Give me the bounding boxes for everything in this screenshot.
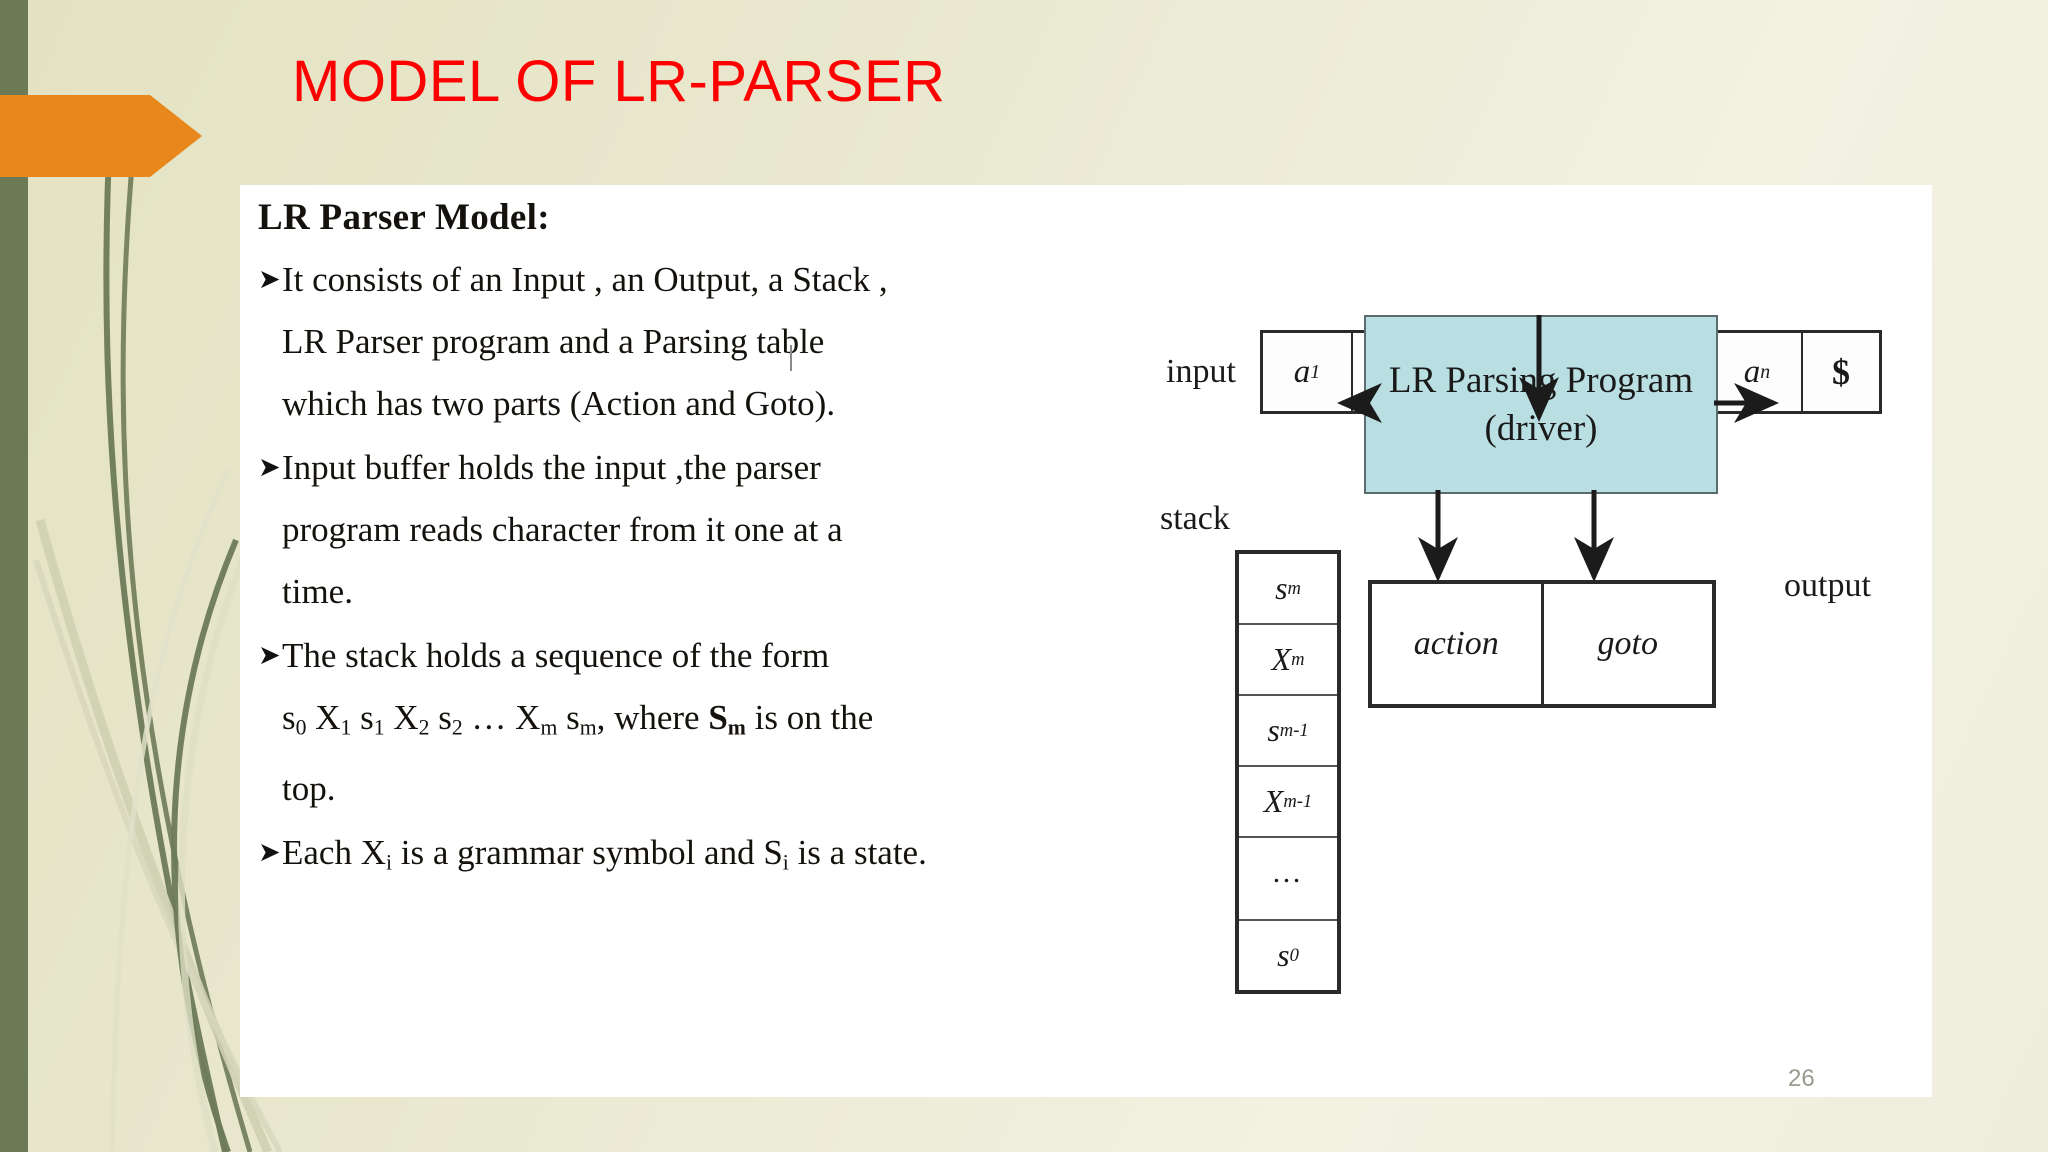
text-cursor-artifact: [790, 345, 792, 371]
input-cell-0: a1: [1263, 333, 1353, 411]
page-title: MODEL OF LR-PARSER: [292, 48, 946, 115]
input-label: input: [1166, 353, 1236, 391]
bullet-input-buffer: ➤ Input buffer holds the input ,the pars…: [258, 437, 1088, 623]
stack-cell-0: sm: [1239, 554, 1337, 625]
bullet-stack-sequence: ➤ The stack holds a sequence of the form…: [258, 625, 1088, 821]
bullet-grammar-symbol: ➤ Each Xi is a grammar symbol and Si is …: [258, 822, 1088, 894]
stack-cell-3: Xm-1: [1239, 767, 1337, 838]
bullet-consists-text: It consists of an Input , an Output, a S…: [282, 249, 1088, 435]
bullet-marker-icon: ➤: [258, 249, 282, 311]
input-cell-6: $: [1803, 333, 1879, 411]
text-column: LR Parser Model: ➤ It consists of an Inp…: [258, 198, 1088, 1088]
bullet-marker-icon: ➤: [258, 437, 282, 499]
input-cell-5: an: [1713, 333, 1803, 411]
stack-label: stack: [1160, 500, 1230, 538]
page-number: 26: [1788, 1065, 1815, 1093]
parser-box-line2: (driver): [1485, 405, 1598, 452]
stack-cell-4: …: [1239, 838, 1337, 921]
bullet-stack-sequence-text: The stack holds a sequence of the form s…: [282, 625, 1088, 821]
parsing-table: actiongoto: [1368, 580, 1716, 708]
bullet-input-buffer-text: Input buffer holds the input ,the parser…: [282, 437, 1088, 623]
parser-box-line1: LR Parsing Program: [1389, 357, 1693, 404]
bullet-marker-icon: ➤: [258, 625, 282, 687]
table-cell-goto: goto: [1544, 584, 1713, 704]
lr-parsing-program-box: LR Parsing Program (driver): [1364, 315, 1718, 494]
stack-cell-1: Xm: [1239, 625, 1337, 696]
output-label: output: [1784, 567, 1871, 605]
table-cell-action: action: [1372, 584, 1544, 704]
bullet-marker-icon: ➤: [258, 822, 282, 884]
stack-box: smXmsm-1Xm-1…s0: [1235, 550, 1341, 994]
lr-parser-diagram: input stack output a1a2…ai…an$ smXmsm-1X…: [1120, 185, 1932, 1097]
bullet-grammar-symbol-text: Each Xi is a grammar symbol and Si is a …: [282, 822, 1088, 894]
stack-cell-2: sm-1: [1239, 696, 1337, 767]
stack-cell-5: s0: [1239, 921, 1337, 990]
bullet-consists: ➤ It consists of an Input , an Output, a…: [258, 249, 1088, 435]
lr-parser-model-heading: LR Parser Model:: [258, 198, 1088, 239]
